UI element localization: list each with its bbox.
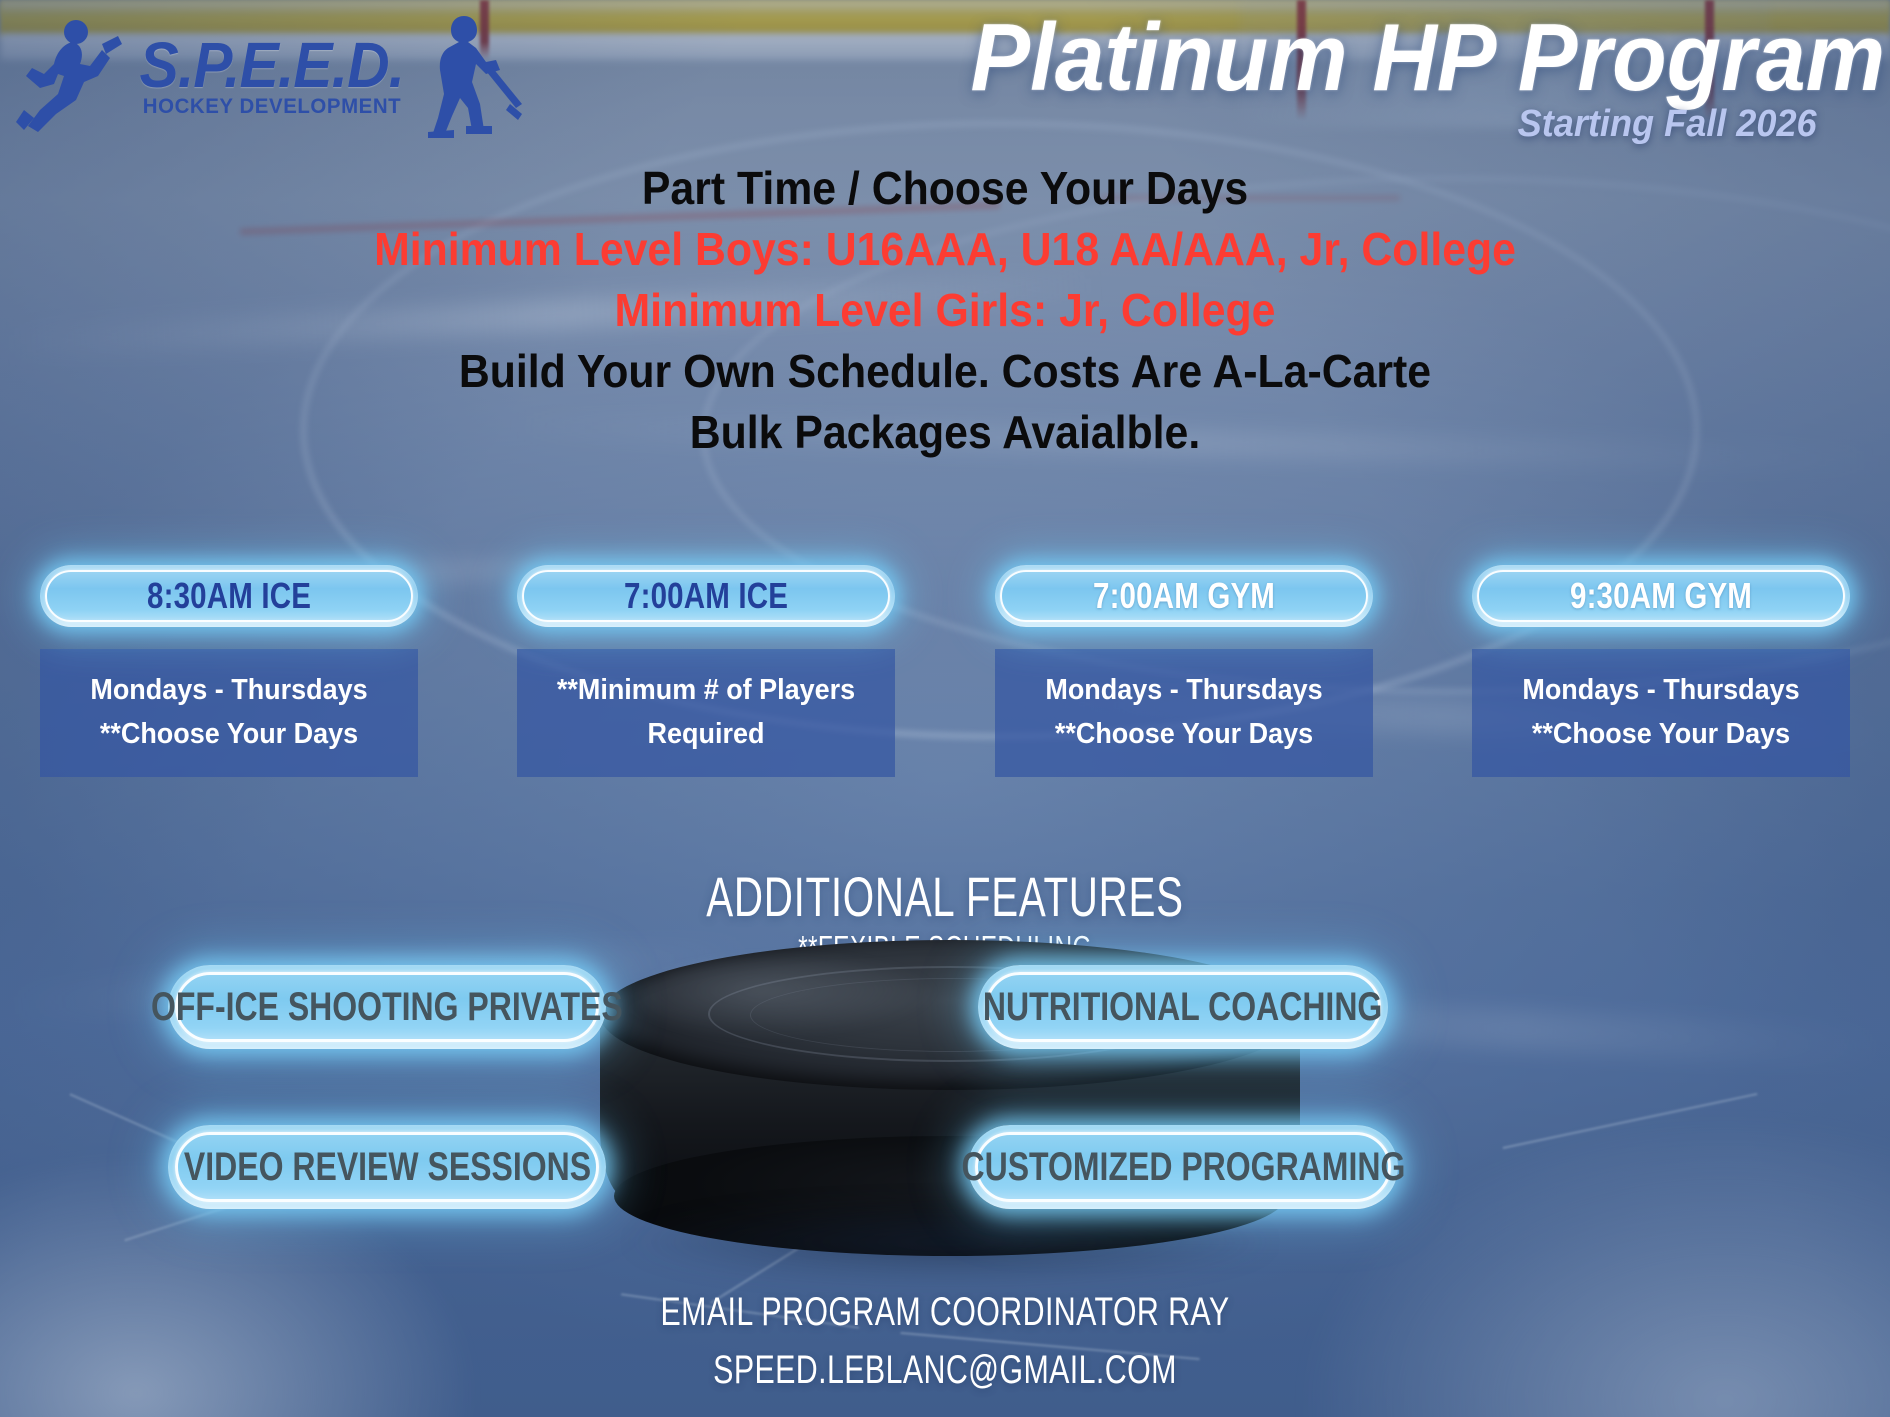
schedule-description-box: **Minimum # of Players Required — [517, 649, 895, 777]
schedule-description-line: **Choose Your Days — [61, 712, 398, 756]
schedule-description-line: **Choose Your Days — [1015, 712, 1352, 756]
feature-pill-off-ice-shooting-privates[interactable]: OFF-ICE SHOOTING PRIVATES — [168, 965, 606, 1049]
info-line: Bulk Packages Avaialble. — [66, 402, 1824, 463]
schedule-description-box: Mondays - Thursdays **Choose Your Days — [1472, 649, 1850, 777]
schedule-column-830am-ice: 8:30AM ICE Mondays - Thursdays **Choose … — [40, 565, 418, 700]
page-subtitle: Starting Fall 2026 — [759, 104, 1885, 146]
info-line: Build Your Own Schedule. Costs Are A-La-… — [66, 341, 1824, 402]
contact-footer: EMAIL PROGRAM COORDINATOR RAY SPEED.LEBL… — [0, 1283, 1890, 1399]
feature-pill-label: OFF-ICE SHOOTING PRIVATES — [151, 985, 623, 1030]
schedule-pill-700am-gym[interactable]: 7:00AM GYM — [995, 565, 1373, 627]
schedule-description-line: Mondays - Thursdays — [1493, 668, 1830, 712]
hockey-player-silhouette-icon — [418, 12, 522, 143]
feature-pill-label: NUTRITIONAL COACHING — [983, 985, 1382, 1030]
schedule-description-box: Mondays - Thursdays **Choose Your Days — [995, 649, 1373, 777]
schedule-column-700am-gym: 7:00AM GYM Mondays - Thursdays **Choose … — [995, 565, 1373, 700]
schedule-description-line: **Minimum # of Players — [538, 668, 875, 712]
schedule-pill-830am-ice[interactable]: 8:30AM ICE — [40, 565, 418, 627]
schedule-pill-label: 7:00AM ICE — [624, 575, 788, 617]
feature-pill-nutritional-coaching[interactable]: NUTRITIONAL COACHING — [978, 965, 1388, 1049]
puck-highlight — [640, 958, 940, 1038]
info-line: Minimum Level Boys: U16AAA, U18 AA/AAA, … — [66, 219, 1824, 280]
puck-shadow — [620, 1202, 1280, 1282]
schedule-description-line: Mondays - Thursdays — [61, 668, 398, 712]
running-skater-silhouette-icon — [14, 14, 126, 141]
schedule-pill-label: 8:30AM ICE — [147, 575, 311, 617]
schedule-description-line: Required — [538, 712, 875, 756]
program-info-block: Part Time / Choose Your Days Minimum Lev… — [0, 158, 1890, 463]
feature-pill-customized-programing[interactable]: CUSTOMIZED PROGRAMING — [968, 1125, 1398, 1209]
poster-canvas: S.P.E.E.D. HOCKEY DEVELOPMENT Platinum H… — [0, 0, 1890, 1417]
schedule-options-row: 8:30AM ICE Mondays - Thursdays **Choose … — [40, 565, 1850, 700]
logo-tagline: HOCKEY DEVELOPMENT — [143, 94, 401, 119]
feature-pill-label: VIDEO REVIEW SESSIONS — [183, 1145, 590, 1190]
schedule-column-930am-gym: 9:30AM GYM Mondays - Thursdays **Choose … — [1472, 565, 1850, 700]
speed-hockey-logo: S.P.E.E.D. HOCKEY DEVELOPMENT — [14, 12, 534, 142]
contact-instruction: EMAIL PROGRAM COORDINATOR RAY — [227, 1283, 1663, 1341]
schedule-description-box: Mondays - Thursdays **Choose Your Days — [40, 649, 418, 777]
feature-pill-label: CUSTOMIZED PROGRAMING — [961, 1145, 1405, 1190]
schedule-pill-label: 9:30AM GYM — [1570, 575, 1752, 617]
schedule-description-line: Mondays - Thursdays — [1015, 668, 1352, 712]
schedule-column-700am-ice: 7:00AM ICE **Minimum # of Players Requir… — [517, 565, 895, 700]
logo-wordmark: S.P.E.E.D. HOCKEY DEVELOPMENT — [128, 35, 416, 118]
schedule-pill-label: 7:00AM GYM — [1093, 575, 1275, 617]
page-title: Platinum HP Program — [783, 10, 1885, 106]
feature-pill-video-review-sessions[interactable]: VIDEO REVIEW SESSIONS — [168, 1125, 606, 1209]
info-line: Minimum Level Girls: Jr, College — [66, 280, 1824, 341]
schedule-description-line: **Choose Your Days — [1493, 712, 1830, 756]
contact-email[interactable]: SPEED.LEBLANC@GMAIL.COM — [227, 1341, 1663, 1399]
logo-name: S.P.E.E.D. — [140, 35, 405, 95]
schedule-pill-930am-gym[interactable]: 9:30AM GYM — [1472, 565, 1850, 627]
schedule-pill-700am-ice[interactable]: 7:00AM ICE — [517, 565, 895, 627]
info-line: Part Time / Choose Your Days — [66, 158, 1824, 219]
additional-features-heading: ADDITIONAL FEATURES — [265, 866, 1626, 928]
